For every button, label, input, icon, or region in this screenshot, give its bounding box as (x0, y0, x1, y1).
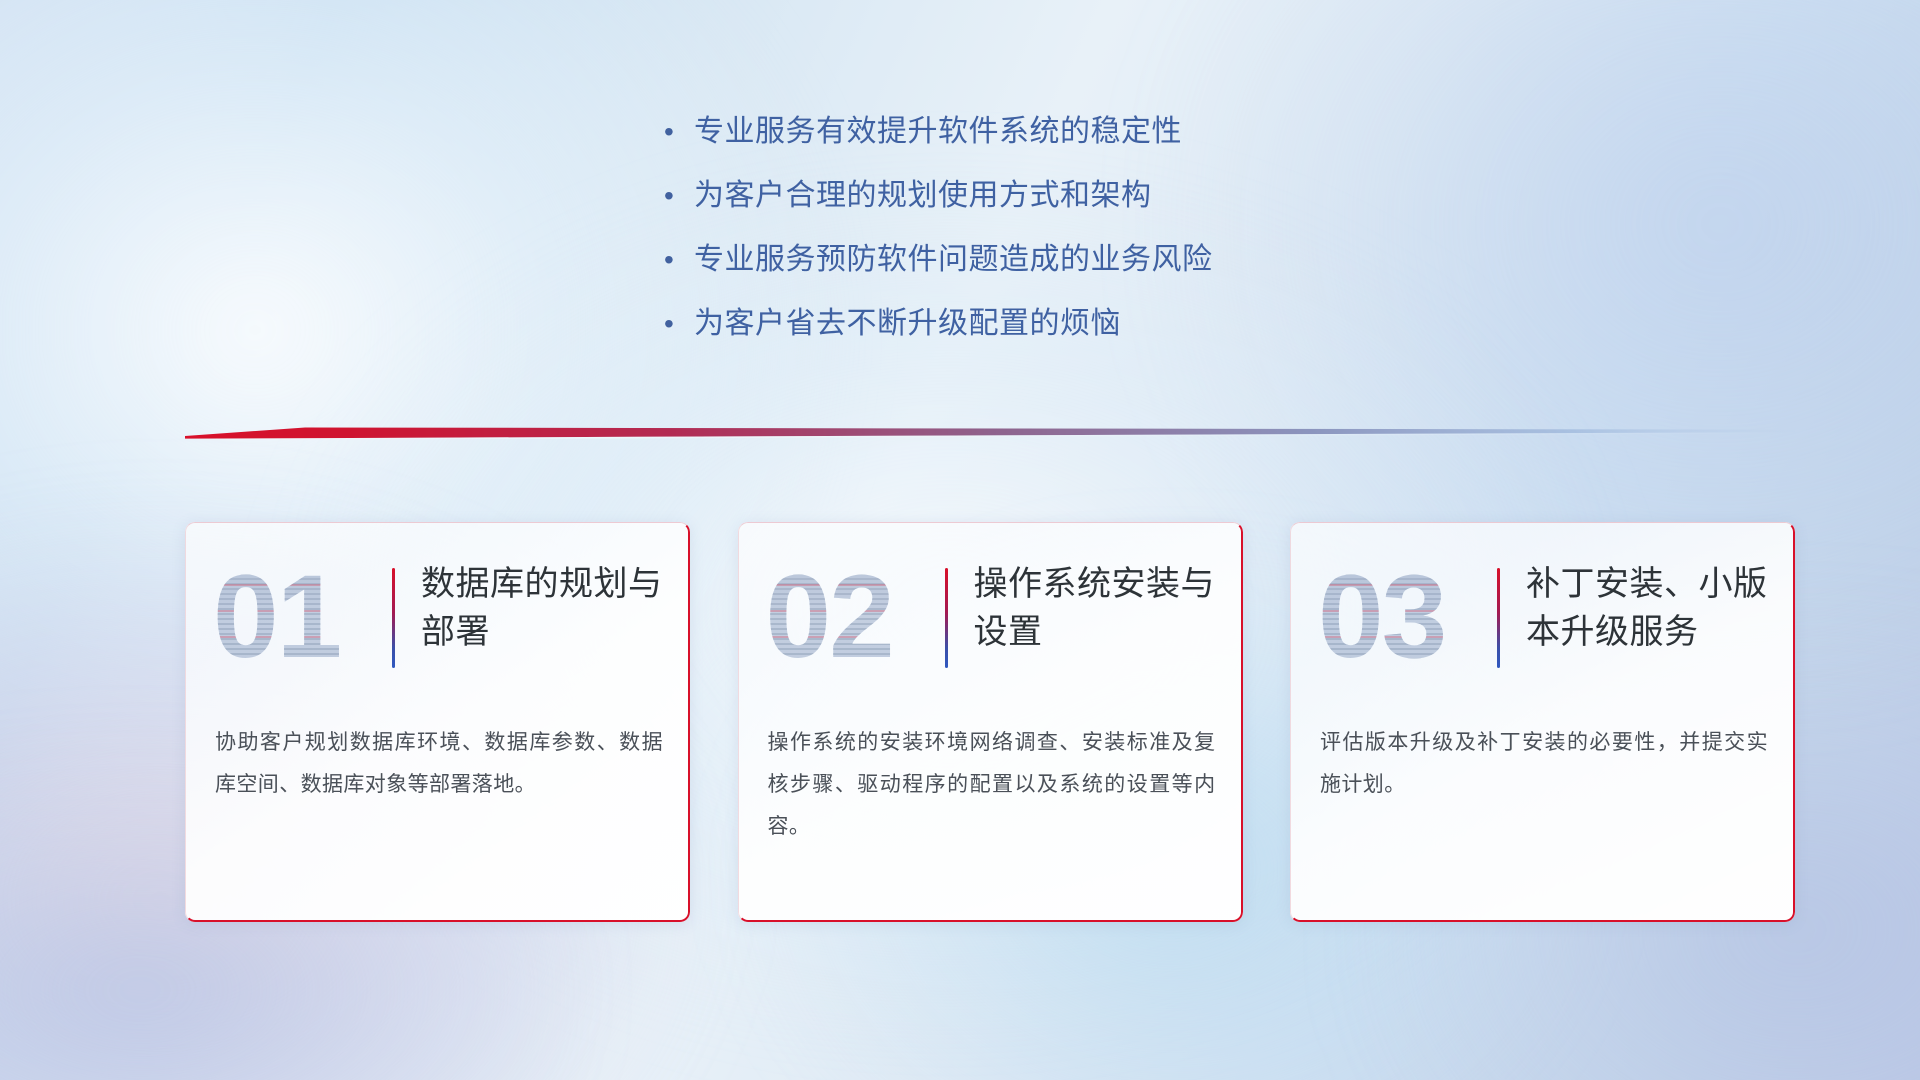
list-item: • 为客户省去不断升级配置的烦恼 (660, 304, 1500, 368)
card-title: 补丁安装、小版本升级服务 (1526, 560, 1776, 656)
list-item: • 为客户合理的规划使用方式和架构 (660, 176, 1500, 240)
card-body-text: 评估版本升级及补丁安装的必要性，并提交实施计划。 (1320, 722, 1768, 806)
slide-canvas: • 专业服务有效提升软件系统的稳定性 • 为客户合理的规划使用方式和架构 • 专… (0, 0, 1920, 1080)
bullet-marker-icon: • (660, 240, 694, 280)
bullet-marker-icon: • (660, 304, 694, 344)
service-cards: 01 01 数据库的规划与部署 协助客户规划数据库环境、数据库参数、数据库空间、… (185, 522, 1795, 922)
card-number-watermark: 01 (213, 558, 363, 676)
service-card-01[interactable]: 01 01 数据库的规划与部署 协助客户规划数据库环境、数据库参数、数据库空间、… (185, 522, 690, 922)
bullet-marker-icon: • (660, 112, 694, 152)
service-card-03[interactable]: 03 03 补丁安装、小版本升级服务 评估版本升级及补丁安装的必要性，并提交实施… (1290, 522, 1795, 922)
card-title-rule (392, 568, 395, 668)
card-number-watermark: 03 (1318, 558, 1468, 676)
card-title-rule (1497, 568, 1500, 668)
list-item: • 专业服务有效提升软件系统的稳定性 (660, 112, 1500, 176)
card-title: 操作系统安装与设置 (974, 560, 1224, 656)
bullet-text: 为客户省去不断升级配置的烦恼 (694, 304, 1121, 344)
card-number-watermark: 02 (766, 558, 916, 676)
benefits-bullet-list: • 专业服务有效提升软件系统的稳定性 • 为客户合理的规划使用方式和架构 • 专… (660, 112, 1500, 368)
bullet-text: 专业服务预防软件问题造成的业务风险 (694, 240, 1213, 280)
bullet-text: 专业服务有效提升软件系统的稳定性 (694, 112, 1182, 152)
bullet-text: 为客户合理的规划使用方式和架构 (694, 176, 1152, 216)
bullet-marker-icon: • (660, 176, 694, 216)
card-title-rule (945, 568, 948, 668)
card-body-text: 操作系统的安装环境网络调查、安装标准及复核步骤、驱动程序的配置以及系统的设置等内… (768, 722, 1216, 848)
section-divider (185, 424, 1795, 442)
service-card-02[interactable]: 02 02 操作系统安装与设置 操作系统的安装环境网络调查、安装标准及复核步骤、… (738, 522, 1243, 922)
card-body-text: 协助客户规划数据库环境、数据库参数、数据库空间、数据库对象等部署落地。 (215, 722, 663, 806)
list-item: • 专业服务预防软件问题造成的业务风险 (660, 240, 1500, 304)
card-title: 数据库的规划与部署 (421, 560, 671, 656)
